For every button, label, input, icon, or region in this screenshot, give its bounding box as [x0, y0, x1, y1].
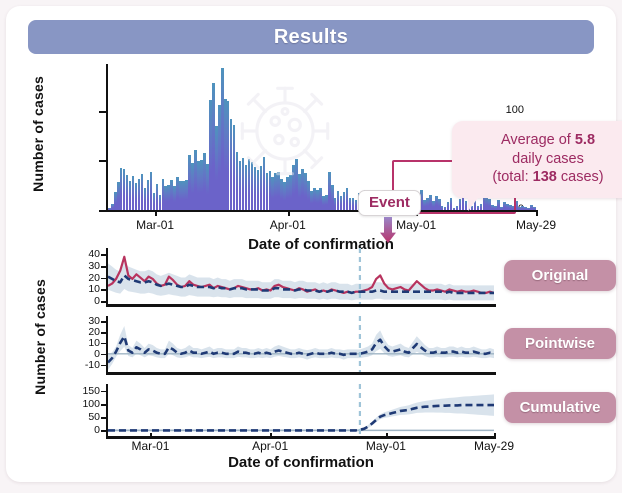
- p1-svg: [108, 248, 494, 304]
- p2-y-axis-line: [106, 316, 108, 372]
- credible-interval-band: [108, 394, 494, 431]
- histogram-y-tick: [99, 111, 106, 113]
- p2-x-axis-line: [106, 372, 496, 375]
- panel-tag-original: Original: [504, 260, 616, 291]
- p3-y-tick: [101, 404, 106, 406]
- panels-y-axis-title-wrap: Number of cases: [32, 242, 48, 432]
- p2-y-tick: [101, 332, 106, 334]
- panels-x-tick: [386, 433, 388, 438]
- panel-tag-cumulative: Cumulative: [504, 392, 616, 423]
- callout-line1-prefix: Average of: [501, 132, 575, 148]
- p2-y-tick-label: -10: [66, 359, 100, 370]
- panel-cumulative: 050100150: [106, 384, 496, 436]
- histogram-y-axis-title: Number of cases: [30, 76, 46, 192]
- results-card: Results Number of cases 050100: [6, 6, 616, 482]
- p2-y-tick: [101, 365, 106, 367]
- section-header-bar: Results: [28, 20, 594, 54]
- p3-y-tick: [101, 430, 106, 432]
- panels-x-tick-label: May-29: [474, 439, 514, 453]
- p1-y-tick-label: 30: [66, 261, 100, 272]
- histogram-y-axis-title-wrap: Number of cases: [30, 64, 46, 204]
- panels-x-axis-title-wrap: Date of confirmation: [106, 454, 496, 472]
- callout-tail: [468, 194, 492, 211]
- daily-cases-histogram-panel: Number of cases 050100: [28, 62, 594, 228]
- callout-total-value: 138: [533, 169, 557, 185]
- histogram-x-tick: [155, 210, 157, 216]
- p2-y-tick: [101, 343, 106, 345]
- panel-pointwise: -100102030: [106, 316, 496, 372]
- p3-y-tick-label: 100: [66, 399, 100, 410]
- panels-y-axis-title: Number of cases: [32, 279, 48, 395]
- p1-y-tick: [101, 254, 106, 256]
- p1-y-tick: [101, 289, 106, 291]
- callout-average-value: 5.8: [575, 132, 595, 148]
- p2-y-tick-label: 0: [66, 349, 100, 360]
- p2-y-tick: [101, 354, 106, 356]
- p2-y-tick-label: 20: [66, 327, 100, 338]
- p1-y-tick-label: 20: [66, 272, 100, 283]
- p2-y-tick-label: 30: [66, 316, 100, 327]
- histogram-x-tick-label: Mar-01: [136, 218, 174, 232]
- p1-y-tick-label: 10: [66, 284, 100, 295]
- p2-svg: [108, 316, 494, 372]
- p1-y-axis-line: [106, 248, 108, 304]
- panel-tag-pointwise: Pointwise: [504, 328, 616, 359]
- histogram-y-tick: [99, 160, 106, 162]
- p3-y-axis-line: [106, 384, 108, 436]
- histogram-y-tick: [99, 210, 106, 212]
- p1-y-tick-label: 40: [66, 249, 100, 260]
- p1-y-tick-label: 0: [66, 296, 100, 307]
- panels-x-tick: [270, 433, 272, 438]
- p3-y-tick: [101, 417, 106, 419]
- callout-line-1: Average of 5.8: [460, 131, 622, 150]
- causal-impact-panels: Number of cases 010203040 -100102030 050…: [28, 242, 594, 472]
- p3-svg: [108, 384, 494, 436]
- histogram-x-tick-label: May-01: [396, 218, 436, 232]
- callout-total-suffix: cases): [557, 169, 604, 185]
- panels-x-tick-label: Apr-01: [252, 439, 288, 453]
- p3-y-tick-label: 150: [66, 386, 100, 397]
- panel-original: 010203040: [106, 248, 496, 304]
- credible-interval-band: [108, 326, 494, 370]
- panels-x-axis-title: Date of confirmation: [228, 454, 374, 471]
- average-cases-callout: Average of 5.8 daily cases (total: 138 c…: [452, 121, 622, 198]
- p1-y-tick: [101, 301, 106, 303]
- page-title: Results: [274, 26, 348, 49]
- p2-y-tick: [101, 321, 106, 323]
- panels-x-tick-label: Mar-01: [131, 439, 169, 453]
- p1-y-tick: [101, 278, 106, 280]
- panels-x-tick: [150, 433, 152, 438]
- callout-line-2: daily cases: [460, 150, 622, 169]
- p1-y-tick: [101, 266, 106, 268]
- histogram-x-tick: [288, 210, 290, 216]
- p1-x-axis-line: [106, 304, 496, 307]
- p3-y-tick-label: 0: [66, 425, 100, 436]
- p2-y-tick-label: 10: [66, 338, 100, 349]
- callout-line-3: (total: 138 cases): [460, 168, 622, 187]
- panels-x-tick-label: May-01: [366, 439, 406, 453]
- histogram-x-tick-label: Apr-01: [270, 218, 306, 232]
- p3-y-tick-label: 50: [66, 412, 100, 423]
- histogram-x-tick: [536, 210, 538, 216]
- p3-y-tick: [101, 391, 106, 393]
- callout-total-prefix: (total:: [492, 169, 532, 185]
- event-annotation-label: Event: [358, 190, 421, 216]
- panels-x-tick: [494, 433, 496, 438]
- histogram-x-tick-label: May-29: [516, 218, 556, 232]
